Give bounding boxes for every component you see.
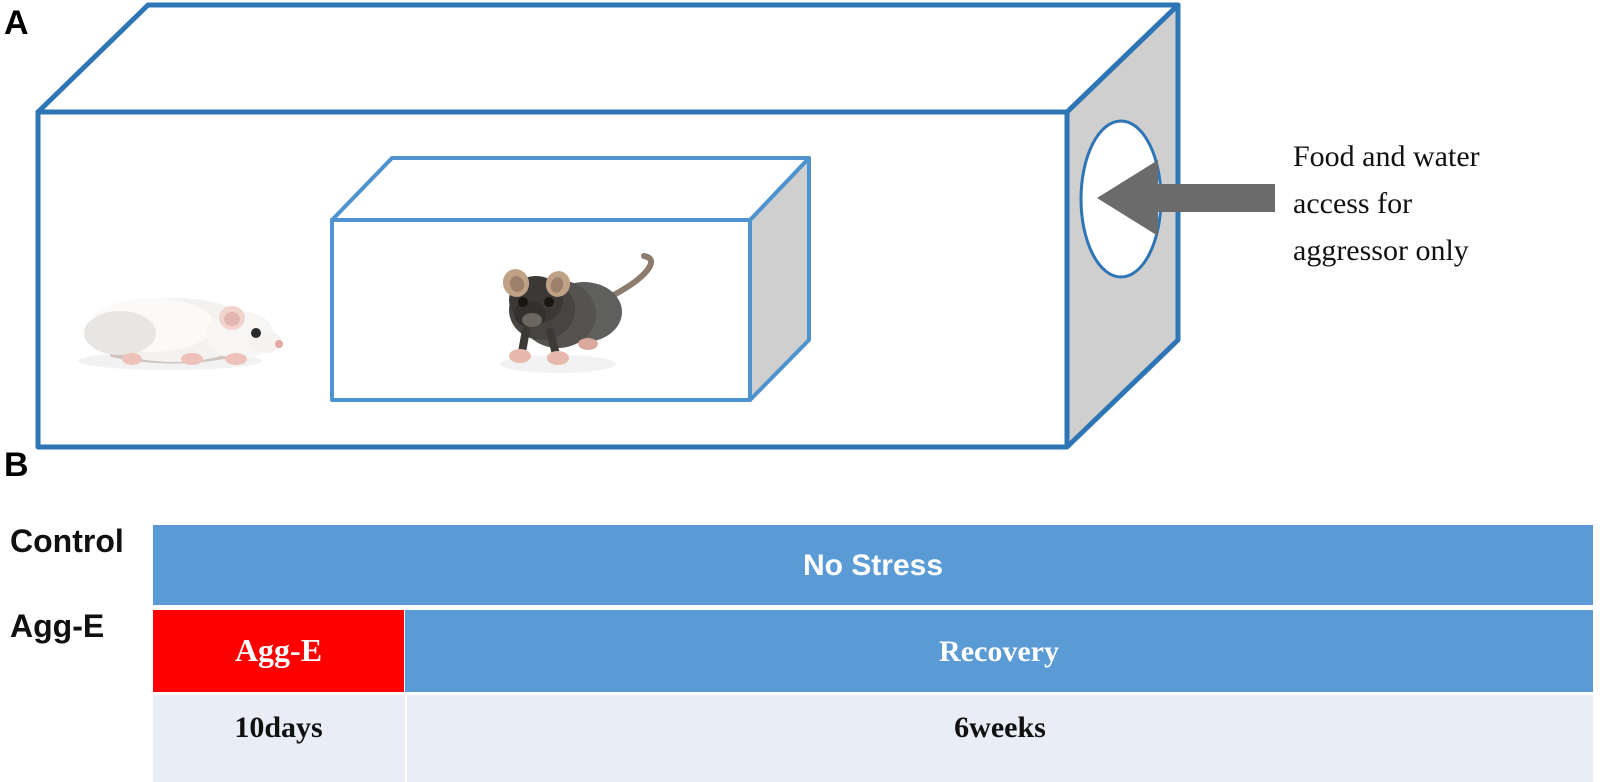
outer-cage-top-face (38, 5, 1178, 112)
duration-label-recovery: 6weeks (405, 695, 1593, 782)
timeline-bar-agg-e: Agg-E (153, 610, 404, 692)
annotation-line-1: Food and water (1293, 133, 1583, 180)
timeline-bar-no-stress: No Stress (153, 525, 1593, 605)
dark-mouse-icon (499, 256, 651, 373)
inner-cage-top-face (332, 158, 809, 220)
timeline-bar-agg-e-label: Agg-E (235, 633, 322, 668)
timeline-bar-recovery: Recovery (405, 610, 1593, 692)
row-label-agg-e: Agg-E (10, 608, 104, 645)
white-mouse-icon (78, 298, 283, 370)
timeline-bar-recovery-label: Recovery (939, 635, 1059, 668)
annotation-line-3: aggressor only (1293, 227, 1583, 274)
timeline-bar-no-stress-label: No Stress (803, 549, 943, 582)
row-label-control: Control (10, 523, 124, 560)
figure-root: A (0, 0, 1600, 782)
duration-label-stress: 10days (153, 695, 404, 782)
duration-band: 10days 6weeks (153, 695, 1593, 782)
food-water-annotation: Food and water access for aggressor only (1293, 133, 1583, 274)
panel-b: B Control Agg-E No Stress Agg-E Recovery… (0, 440, 1600, 782)
panel-a: A (0, 0, 1600, 460)
panel-b-letter: B (4, 448, 29, 482)
annotation-line-2: access for (1293, 180, 1583, 227)
